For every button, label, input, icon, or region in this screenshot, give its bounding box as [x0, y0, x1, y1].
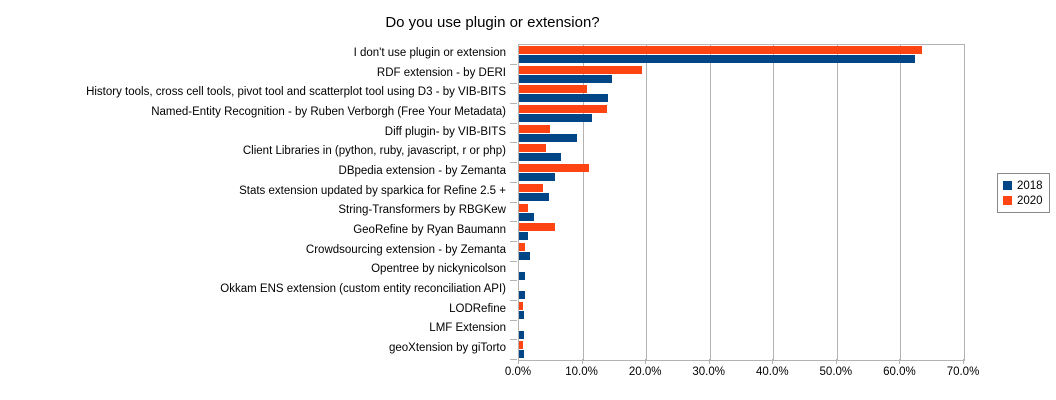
bar-group [519, 302, 964, 320]
category-label: LODRefine [1, 303, 506, 315]
bar-2018 [519, 272, 525, 280]
value-axis-label: 10.0% [552, 366, 612, 378]
value-axis-tick [963, 359, 964, 364]
bar-chart: Do you use plugin or extension? I don't … [0, 0, 1056, 400]
bar-2018 [519, 173, 555, 181]
category-label: I don't use plugin or extension [1, 47, 506, 59]
category-axis-tick [510, 64, 517, 65]
category-label: Client Libraries in (python, ruby, javas… [1, 145, 506, 157]
bar-group [519, 263, 964, 281]
category-axis-ticks [510, 44, 518, 359]
category-label: Opentree by nickynicolson [1, 263, 506, 275]
bar-2020 [519, 105, 607, 113]
category-label: LMF Extension [1, 322, 506, 334]
bar-2020 [519, 85, 587, 93]
category-axis-tick [510, 123, 517, 124]
category-axis-tick [510, 359, 517, 360]
value-axis-label: 70.0% [933, 366, 993, 378]
category-axis-tick [510, 202, 517, 203]
bar-2018 [519, 291, 525, 299]
bar-group [519, 341, 964, 359]
bar-2018 [519, 193, 549, 201]
category-axis-tick [510, 241, 517, 242]
value-axis-tick [709, 359, 710, 364]
category-axis-tick [510, 300, 517, 301]
category-label: History tools, cross cell tools, pivot t… [1, 86, 506, 98]
bar-2018 [519, 134, 577, 142]
bar-2018 [519, 350, 524, 358]
category-label: RDF extension - by DERI [1, 67, 506, 79]
bar-group [519, 243, 964, 261]
category-label: Named-Entity Recognition - by Ruben Verb… [1, 106, 506, 118]
category-label: DBpedia extension - by Zemanta [1, 165, 506, 177]
bar-2018 [519, 114, 592, 122]
bar-2020 [519, 243, 525, 251]
bar-2020 [519, 184, 543, 192]
category-axis-tick [510, 339, 517, 340]
value-axis-tick [772, 359, 773, 364]
value-axis-tick [518, 359, 519, 364]
plot-wrapper: I don't use plugin or extensionRDF exten… [0, 44, 985, 359]
category-axis-tick [510, 103, 517, 104]
legend-item-2020[interactable]: 2020 [1003, 193, 1043, 208]
category-label: Diff plugin- by VIB-BITS [1, 126, 506, 138]
bar-2020 [519, 341, 523, 349]
bar-2018 [519, 94, 608, 102]
category-axis-tick [510, 83, 517, 84]
bar-2018 [519, 153, 561, 161]
bar-2018 [519, 75, 612, 83]
bar-group [519, 144, 964, 162]
legend-item-2018[interactable]: 2018 [1003, 178, 1043, 193]
bar-group [519, 184, 964, 202]
category-axis-labels: I don't use plugin or extensionRDF exten… [0, 44, 512, 359]
category-label: GeoRefine by Ryan Baumann [1, 224, 506, 236]
bar-group [519, 164, 964, 182]
bar-group [519, 204, 964, 222]
bar-group [519, 85, 964, 103]
bar-2018 [519, 311, 524, 319]
chart-title: Do you use plugin or extension? [0, 14, 985, 31]
value-axis-label: 0.0% [488, 366, 548, 378]
bar-group [519, 46, 964, 64]
bar-group [519, 282, 964, 300]
bar-2018 [519, 55, 915, 63]
value-axis-tick [836, 359, 837, 364]
value-axis-label: 30.0% [679, 366, 739, 378]
bar-2020 [519, 164, 589, 172]
bar-2020 [519, 46, 922, 54]
bar-2020 [519, 223, 555, 231]
value-axis-ticks [518, 359, 965, 365]
value-axis-labels: 0.0%10.0%20.0%30.0%40.0%50.0%60.0%70.0% [0, 366, 1056, 386]
bar-2020 [519, 144, 546, 152]
bar-2020 [519, 66, 642, 74]
plot-area [518, 44, 965, 361]
legend-swatch-icon [1003, 196, 1012, 205]
chart-legend: 20182020 [997, 173, 1050, 213]
bar-2020 [519, 125, 550, 133]
category-label: Okkam ENS extension (custom entity recon… [1, 283, 506, 295]
bar-2018 [519, 252, 530, 260]
legend-swatch-icon [1003, 181, 1012, 190]
bar-2018 [519, 232, 528, 240]
value-axis-tick [582, 359, 583, 364]
value-axis-tick [899, 359, 900, 364]
category-axis-tick [510, 221, 517, 222]
category-label: Stats extension updated by sparkica for … [1, 185, 506, 197]
bar-group [519, 66, 964, 84]
legend-label: 2018 [1017, 180, 1043, 192]
value-axis-label: 60.0% [869, 366, 929, 378]
category-axis-tick [510, 280, 517, 281]
bar-2020 [519, 204, 528, 212]
value-axis-label: 50.0% [806, 366, 866, 378]
bar-group [519, 105, 964, 123]
category-axis-tick [510, 142, 517, 143]
category-axis-tick [510, 320, 517, 321]
legend-label: 2020 [1017, 195, 1043, 207]
value-axis-tick [645, 359, 646, 364]
bar-2018 [519, 331, 524, 339]
bar-2018 [519, 213, 534, 221]
category-axis-tick [510, 162, 517, 163]
bar-2020 [519, 302, 523, 310]
bar-group [519, 322, 964, 340]
bar-group [519, 223, 964, 241]
value-axis-label: 20.0% [615, 366, 675, 378]
category-axis-tick [510, 261, 517, 262]
value-axis-label: 40.0% [742, 366, 802, 378]
category-label: String-Transformers by RBGKew [1, 204, 506, 216]
category-axis-tick [510, 182, 517, 183]
category-label: geoXtension by giTorto [1, 342, 506, 354]
bar-group [519, 125, 964, 143]
category-label: Crowdsourcing extension - by Zemanta [1, 244, 506, 256]
